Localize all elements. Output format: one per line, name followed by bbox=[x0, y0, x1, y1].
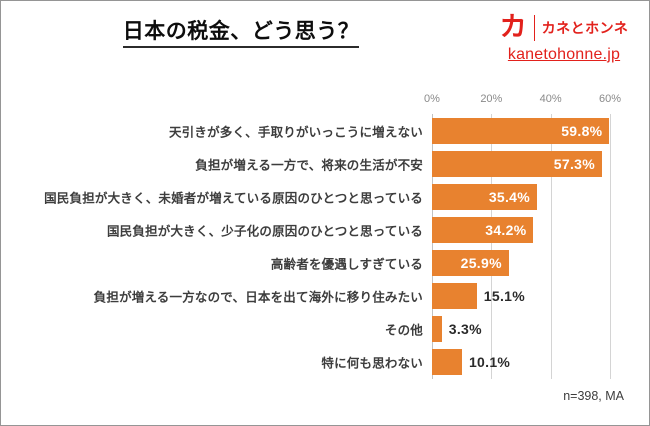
category-label: 天引きが多く、手取りがいっこうに増えない bbox=[169, 121, 423, 140]
brand-name: カネとホンネ bbox=[542, 18, 629, 38]
chart-screenshot: 日本の税金、どう思う？ カ カネとホンネ kanetohonne.jp 0%20… bbox=[0, 0, 650, 426]
category-label: 特に何も思わない bbox=[321, 353, 423, 372]
bar: 57.3% bbox=[432, 151, 602, 177]
bar-row: 高齢者を優遇しすぎている25.9% bbox=[1, 246, 650, 279]
category-label: 負担が増える一方で、将来の生活が不安 bbox=[195, 154, 423, 173]
category-label: 国民負担が大きく、未婚者が増えている原因のひとつと思っている bbox=[44, 187, 423, 206]
x-tick-label: 60% bbox=[599, 93, 621, 105]
bar: 25.9% bbox=[432, 250, 509, 276]
brand-logo: カ カネとホンネ kanetohonne.jp bbox=[491, 11, 637, 64]
bar-value-label: 35.4% bbox=[489, 189, 530, 205]
bar-fill bbox=[432, 283, 477, 309]
bar-fill bbox=[432, 316, 442, 342]
brand-mark-icon: カ bbox=[500, 14, 527, 41]
bar: 15.1% bbox=[432, 283, 477, 309]
bar-rows: 天引きが多く、手取りがいっこうに増えない59.8%負担が増える一方で、将来の生活… bbox=[1, 114, 650, 379]
bar: 10.1% bbox=[432, 349, 462, 375]
bar: 59.8% bbox=[432, 118, 609, 144]
bar-value-label: 25.9% bbox=[461, 255, 502, 271]
bar: 3.3% bbox=[432, 316, 442, 342]
bar-row: 国民負担が大きく、未婚者が増えている原因のひとつと思っている35.4% bbox=[1, 180, 650, 213]
bar-value-label: 34.2% bbox=[485, 222, 526, 238]
brand-url-link[interactable]: kanetohonne.jp bbox=[491, 46, 637, 64]
sample-size-note: n=398, MA bbox=[563, 389, 624, 403]
bar-row: 負担が増える一方なので、日本を出て海外に移り住みたい15.1% bbox=[1, 279, 650, 312]
bar-value-label: 59.8% bbox=[561, 123, 602, 139]
x-tick-label: 0% bbox=[424, 93, 440, 105]
page-title: 日本の税金、どう思う？ bbox=[1, 15, 481, 45]
bar-value-label: 57.3% bbox=[554, 156, 595, 172]
bar: 34.2% bbox=[432, 217, 533, 243]
category-label: 負担が増える一方なので、日本を出て海外に移り住みたい bbox=[94, 287, 423, 306]
bar-row: 特に何も思わない10.1% bbox=[1, 346, 650, 379]
x-tick-label: 40% bbox=[540, 93, 562, 105]
bar-value-label: 15.1% bbox=[484, 288, 525, 304]
bar-row: 国民負担が大きく、少子化の原因のひとつと思っている34.2% bbox=[1, 213, 650, 246]
page-title-text: 日本の税金、どう思う？ bbox=[123, 20, 360, 48]
bar-row: 天引きが多く、手取りがいっこうに増えない59.8% bbox=[1, 114, 650, 147]
bar-row: その他3.3% bbox=[1, 313, 650, 346]
category-label: その他 bbox=[385, 320, 423, 339]
bar-value-label: 10.1% bbox=[469, 354, 510, 370]
category-label: 国民負担が大きく、少子化の原因のひとつと思っている bbox=[107, 220, 423, 239]
brand-row: カ カネとホンネ bbox=[491, 11, 637, 44]
x-tick-label: 20% bbox=[480, 93, 502, 105]
bar: 35.4% bbox=[432, 184, 537, 210]
category-label: 高齢者を優遇しすぎている bbox=[271, 253, 423, 272]
bar-value-label: 3.3% bbox=[449, 321, 482, 337]
brand-divider bbox=[534, 15, 535, 41]
bar-fill bbox=[432, 349, 462, 375]
bar-row: 負担が増える一方で、将来の生活が不安57.3% bbox=[1, 147, 650, 180]
